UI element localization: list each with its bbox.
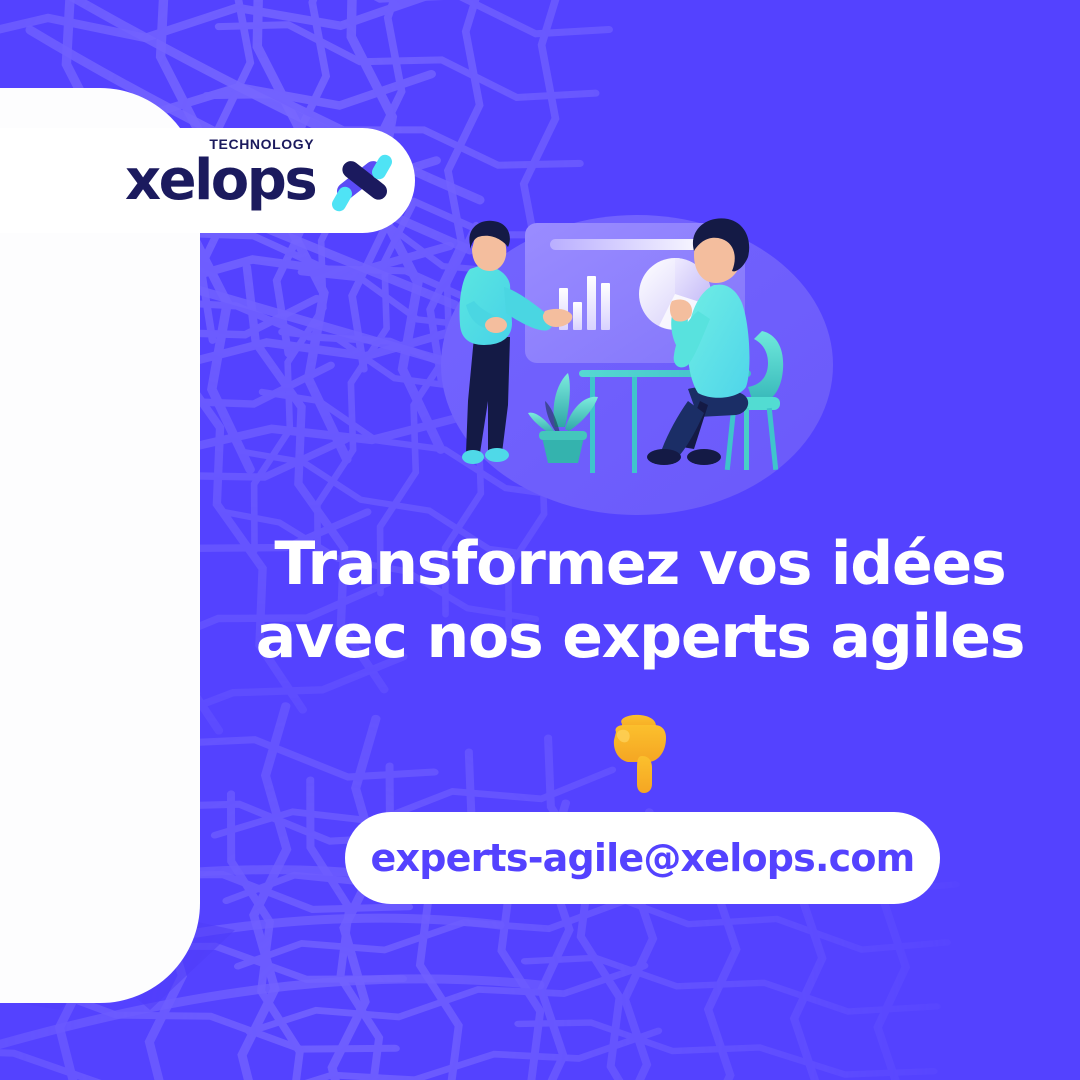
whiteboard-progress-bar [550, 239, 716, 250]
headline-line-2: avec nos experts agiles [230, 601, 1050, 674]
email-cta-pill[interactable]: experts-agile@xelops.com [345, 812, 940, 904]
headline-line-1: Transformez vos idées [230, 528, 1050, 601]
logo-tagline-text: TECHNOLOGY [209, 137, 314, 151]
team-presentation-illustration [432, 205, 852, 525]
logo-lockup: xelops TECHNOLOGY [125, 144, 399, 218]
logo-wordmark: xelops TECHNOLOGY [125, 153, 315, 209]
headline: Transformez vos idées avec nos experts a… [230, 528, 1050, 674]
poster-canvas: xelops TECHNOLOGY [0, 0, 1080, 1080]
pointer-emoji-wrap [230, 712, 1050, 799]
email-address-text: experts-agile@xelops.com [371, 836, 915, 880]
pointing-down-hand-icon [604, 712, 676, 794]
xelops-x-mark-icon [325, 144, 399, 218]
logo-wordmark-text: xelops [125, 153, 315, 209]
logo-pill: xelops TECHNOLOGY [0, 128, 415, 233]
